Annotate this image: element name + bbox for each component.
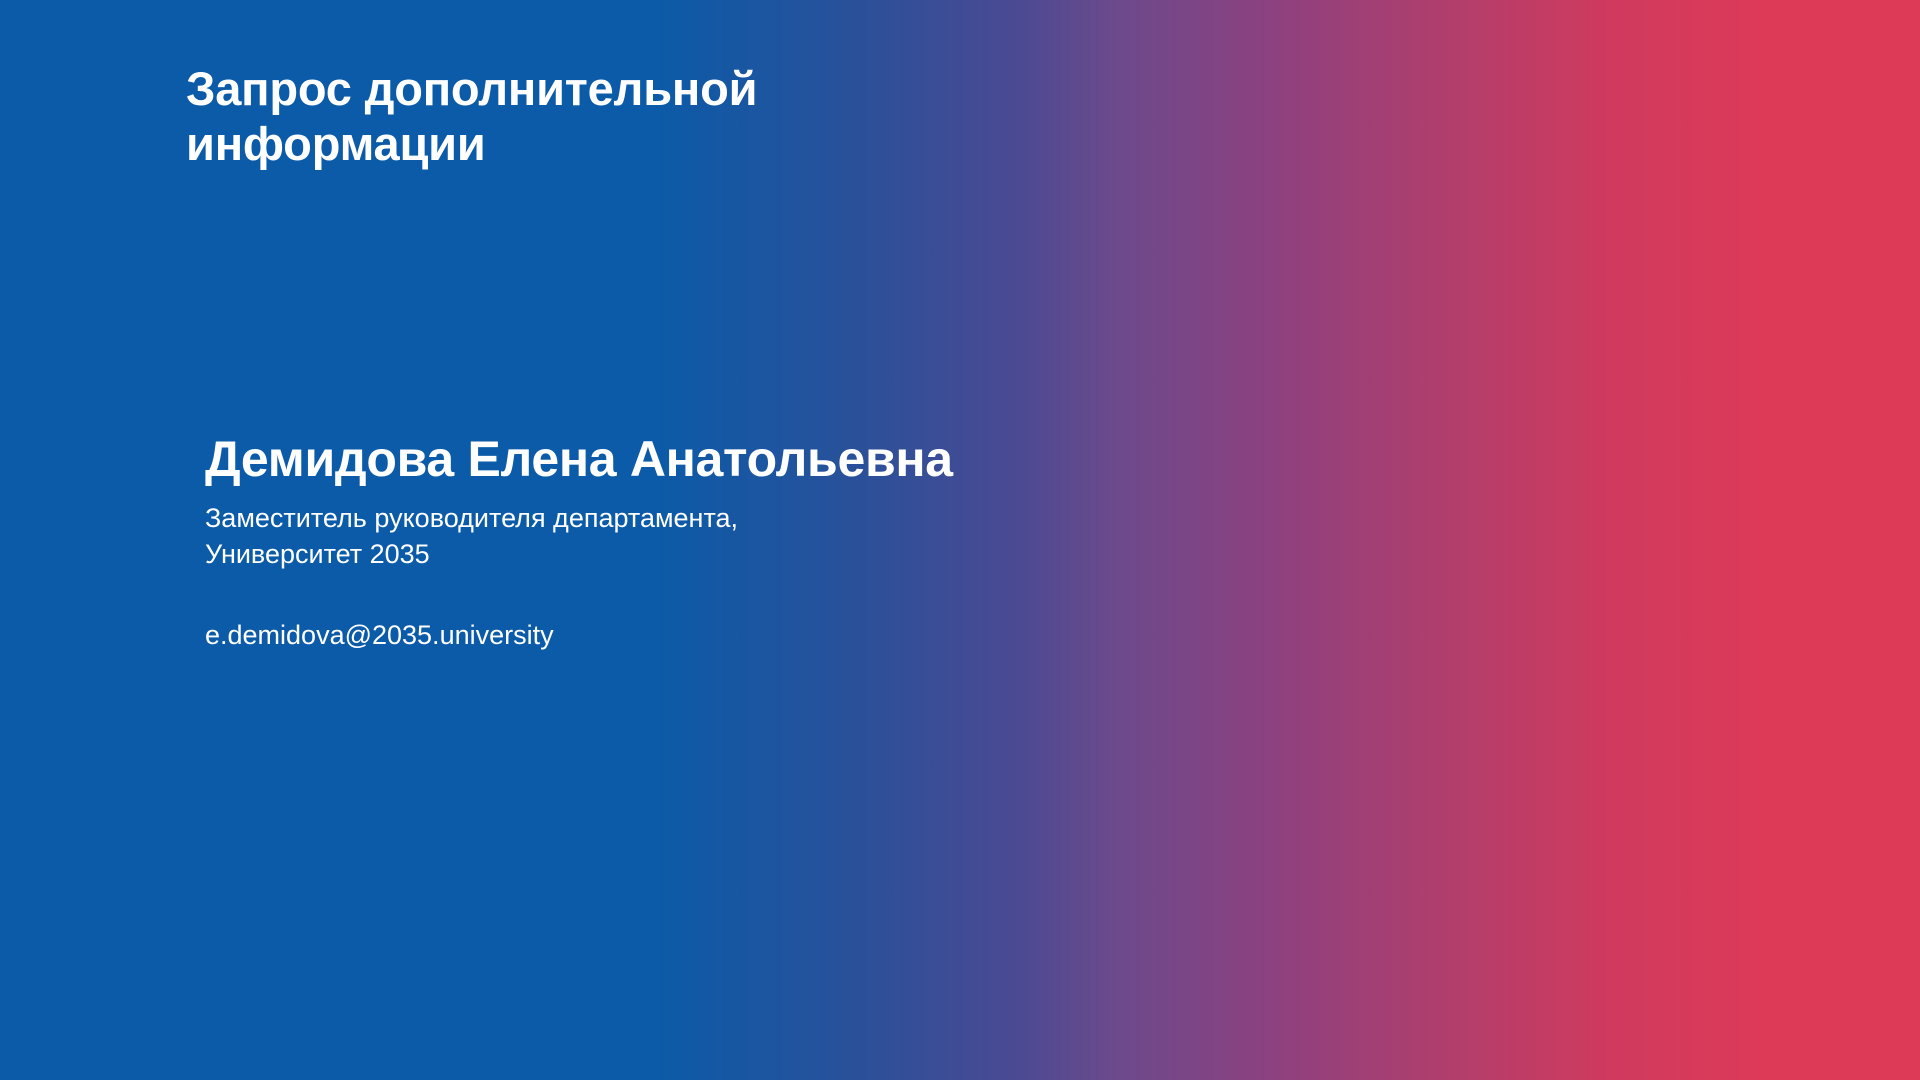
slide-title-block: Запрос дополнительной информации	[186, 62, 946, 171]
presenter-role: Заместитель руководителя департамента, У…	[205, 501, 1205, 572]
presentation-slide: Запрос дополнительной информации Демидов…	[0, 0, 1920, 1080]
page-title: Запрос дополнительной информации	[186, 62, 946, 171]
presenter-email-link[interactable]: e.demidova@2035.university	[205, 618, 554, 653]
presenter-name: Демидова Елена Анатольевна	[205, 432, 1205, 487]
presenter-block: Демидова Елена Анатольевна Заместитель р…	[205, 432, 1205, 653]
